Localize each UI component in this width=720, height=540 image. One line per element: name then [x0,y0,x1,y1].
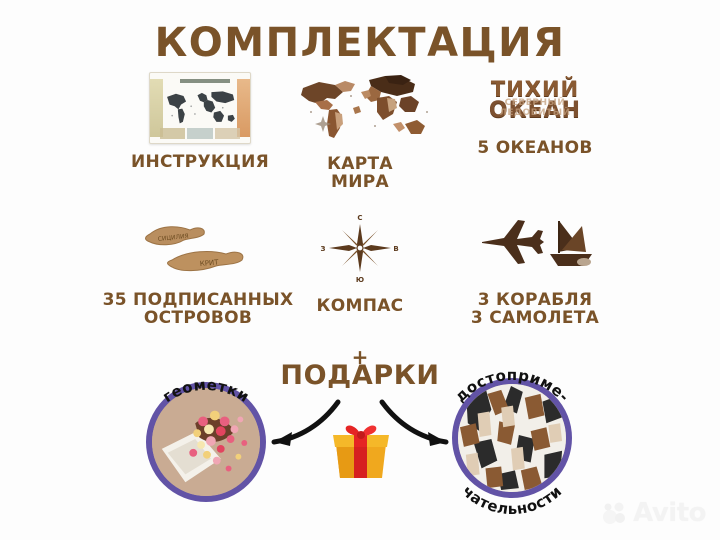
island-name-2: КРИТ [199,258,219,268]
compass-south: Ю [356,276,364,284]
item-label: 5 ОКЕАНОВ [440,140,630,158]
item-world-map: КАРТА МИРА [275,68,445,192]
ocean-ghost-word: СЕВЕРНЫЙ ЛЕДОВИТЫЙ [475,98,595,118]
avito-watermark: Avito [602,498,706,528]
badge-ring [452,378,572,498]
wooden-landmarks-photo [458,384,566,492]
flower-bouquet-photo [152,388,260,496]
arrow-left-curve [274,402,338,442]
gift-box-icon [330,424,392,480]
landmarks-badge: достоприме- чательности [452,378,572,498]
airplane-glyph [482,220,544,264]
wooden-islands-icon: СИЦИЛИЯ КРИТ [128,212,268,282]
compass-west: З [321,245,326,253]
page-title: КОМПЛЕКТАЦИЯ [0,20,720,66]
compass-east: В [393,245,398,253]
geotags-badge: геометки [146,382,266,502]
item-oceans: ТИХИЙ ОКЕАН СЕВЕРНЫЙ ЛЕДОВИТЫЙ 5 ОКЕАНОВ [440,72,630,158]
item-instruction: ИНСТРУКЦИЯ [105,72,295,172]
instruction-sheet-icon [105,72,295,144]
ocean-letters-icon: ТИХИЙ ОКЕАН СЕВЕРНЫЙ ЛЕДОВИТЫЙ [475,72,595,130]
item-ships-planes: 3 КОРАБЛЯ 3 САМОЛЕТА [430,208,640,328]
wooden-world-map-icon [285,68,435,148]
plane-and-ship-icon [470,208,600,278]
item-label-line2: ОСТРОВОВ [88,310,308,328]
item-islands: СИЦИЛИЯ КРИТ 35 ПОДПИСАННЫХ ОСТРОВОВ [88,212,308,328]
item-compass: С В Ю З КОМПАС [300,212,420,316]
sailboat-glyph [550,221,592,266]
item-label: ИНСТРУКЦИЯ [105,154,295,172]
compass-rose-icon: С В Ю З [317,212,403,284]
gifts-heading: ПОДАРКИ [0,360,720,391]
avito-logo-icon [602,501,628,525]
avito-watermark-text: Avito [633,498,706,528]
item-label-line2: МИРА [275,174,445,192]
compass-north: С [357,214,362,222]
item-label: КОМПАС [300,298,420,316]
item-label-line2: 3 САМОЛЕТА [430,310,640,328]
infographic-canvas: КОМПЛЕКТАЦИЯ [0,0,720,540]
badge-ring [146,382,266,502]
